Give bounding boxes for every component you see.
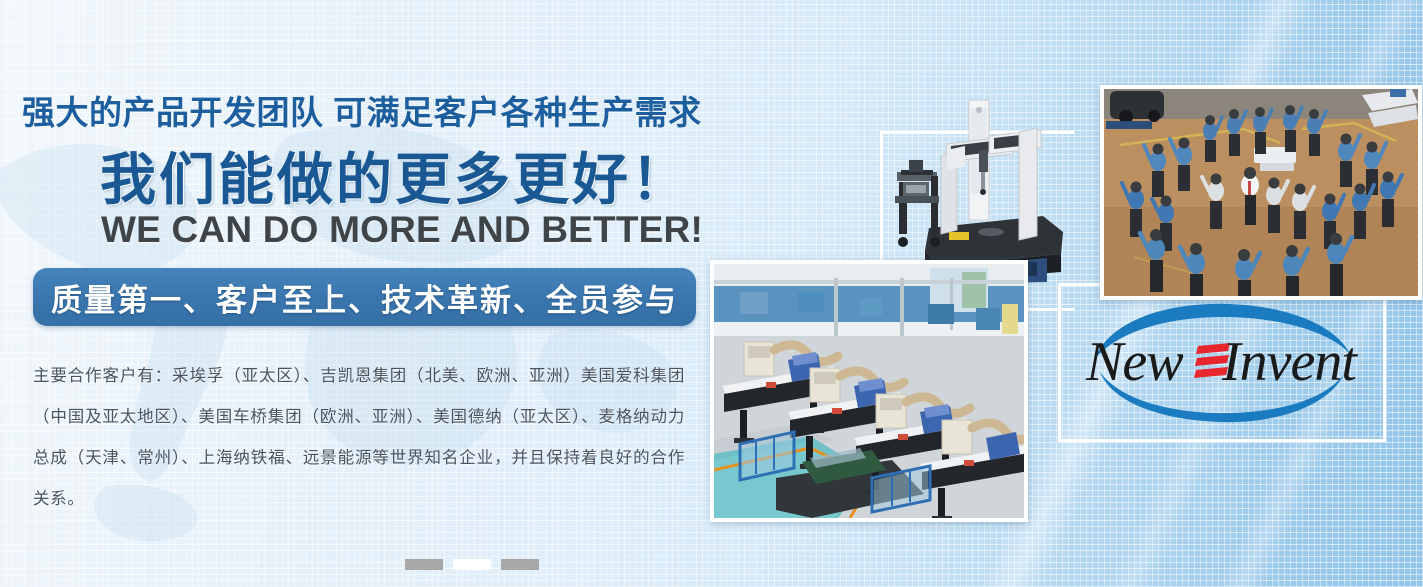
partner-clients-paragraph: 主要合作客户有：采埃孚（亚太区）、吉凯恩集团（北美、欧洲、亚洲）美国爱科集团（中… (33, 356, 685, 520)
slider-dot-2[interactable] (453, 559, 491, 570)
banner-eyebrow-text: 强大的产品开发团队 可满足客户各种生产需求 (22, 86, 702, 134)
hero-banner-slide: 强大的产品开发团队 可满足客户各种生产需求 我们能做的更多更好！ WE CAN … (0, 0, 1423, 587)
logo-word-invent: Invent (1221, 331, 1358, 393)
slider-dot-3[interactable] (501, 559, 539, 570)
banner-copy-block: 强大的产品开发团队 可满足客户各种生产需求 我们能做的更多更好！ WE CAN … (0, 0, 740, 587)
slogan-bar: 质量第一、客户至上、技术革新、全员参与 (33, 268, 696, 326)
banner-headline-chinese: 我们能做的更多更好！ (100, 135, 690, 216)
slogan-bar-text: 质量第一、客户至上、技术革新、全员参与 (51, 275, 678, 320)
slider-dot-1[interactable] (405, 559, 443, 570)
company-logo: New Invent (1068, 300, 1376, 426)
banner-headline-english: WE CAN DO MORE AND BETTER! (101, 209, 703, 251)
slider-pagination[interactable] (405, 559, 539, 570)
team-photo (1100, 85, 1422, 300)
logo-word-new: New (1085, 331, 1183, 393)
photo-collage: New Invent (700, 0, 1423, 587)
cmm-machine-photo (891, 86, 1076, 286)
factory-line-photo (710, 260, 1028, 522)
